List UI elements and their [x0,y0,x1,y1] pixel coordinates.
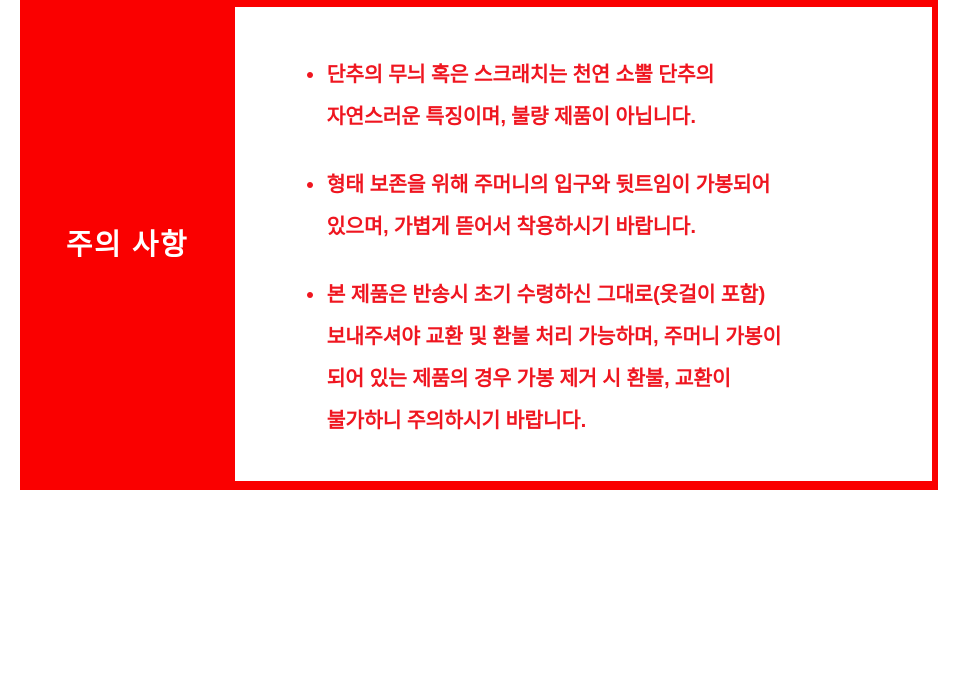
notice-line: 있으며, 가볍게 뜯어서 착용하시기 바랍니다. [327,206,925,248]
list-item: 단추의 무늬 혹은 스크래치는 천연 소뿔 단추의 자연스러운 특징이며, 불량… [305,54,925,138]
notice-list: 단추의 무늬 혹은 스크래치는 천연 소뿔 단추의 자연스러운 특징이며, 불량… [305,54,925,442]
page-title: 주의 사항 [66,228,188,263]
bullet-dot-icon [307,72,313,78]
list-item: 형태 보존을 위해 주머니의 입구와 뒷트임이 가봉되어 있으며, 가볍게 뜯어… [305,164,925,248]
notice-title-panel: 주의 사항 [20,0,235,490]
bullet-dot-icon [307,182,313,188]
notice-line: 형태 보존을 위해 주머니의 입구와 뒷트임이 가봉되어 [327,164,925,206]
notice-line: 불가하니 주의하시기 바랍니다. [327,400,925,442]
notice-line: 단추의 무늬 혹은 스크래치는 천연 소뿔 단추의 [327,54,925,96]
list-item: 본 제품은 반송시 초기 수령하신 그대로(옷걸이 포함) 보내주셔야 교환 및… [305,274,925,442]
notice-banner: 주의 사항 단추의 무늬 혹은 스크래치는 천연 소뿔 단추의 자연스러운 특징… [20,0,938,490]
notice-line: 보내주셔야 교환 및 환불 처리 가능하며, 주머니 가봉이 [327,316,925,358]
notice-content-box: 단추의 무늬 혹은 스크래치는 천연 소뿔 단추의 자연스러운 특징이며, 불량… [235,7,932,481]
bullet-dot-icon [307,292,313,298]
notice-line: 되어 있는 제품의 경우 가봉 제거 시 환불, 교환이 [327,358,925,400]
notice-line: 본 제품은 반송시 초기 수령하신 그대로(옷걸이 포함) [327,274,925,316]
notice-line: 자연스러운 특징이며, 불량 제품이 아닙니다. [327,96,925,138]
